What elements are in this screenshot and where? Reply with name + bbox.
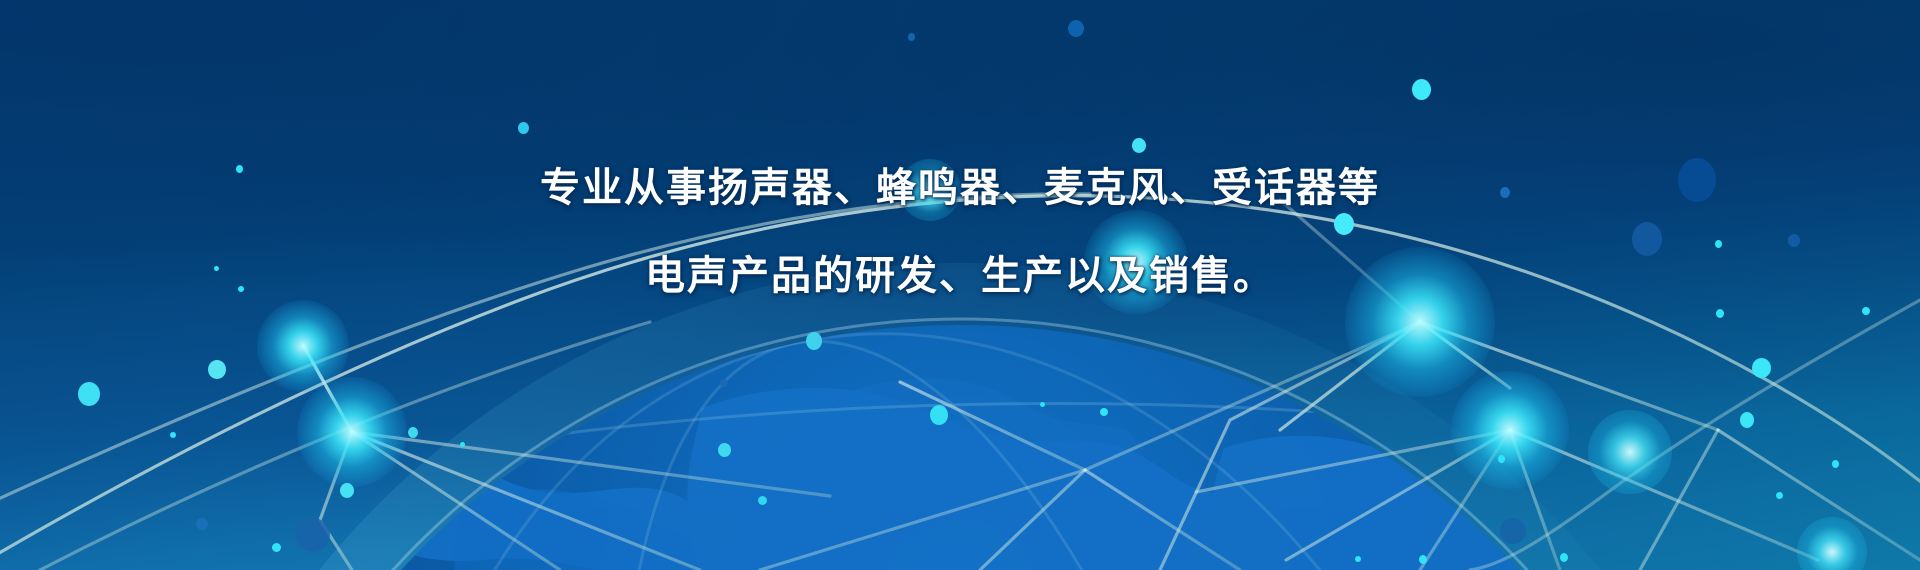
particle-dot-icon: [1498, 455, 1505, 463]
particle-dot-icon: [1500, 187, 1510, 198]
particle-dot-icon: [908, 33, 915, 41]
particle-dot-icon: [1788, 234, 1800, 247]
particle-dot-icon: [1040, 402, 1045, 407]
particle-dot-icon: [1752, 358, 1771, 378]
particle-dot-icon: [1832, 460, 1839, 468]
particle-dot-icon: [1716, 309, 1724, 318]
particle-dot-icon: [296, 518, 330, 552]
particle-dot-icon: [1740, 412, 1754, 428]
particle-dot-icon: [1068, 20, 1084, 37]
particle-dot-icon: [1132, 138, 1146, 153]
particle-dot-icon: [460, 442, 465, 447]
hero-banner: 专业从事扬声器、蜂鸣器、麦克风、受话器等 电声产品的研发、生产以及销售。: [0, 0, 1920, 570]
particle-dot-icon: [1355, 556, 1361, 562]
particle-dot-icon: [408, 427, 418, 438]
particle-dot-icon: [170, 432, 176, 438]
particle-dot-icon: [340, 483, 354, 498]
particle-dot-icon: [1862, 307, 1870, 315]
particle-dot-icon: [718, 443, 731, 457]
particle-dot-icon: [78, 382, 100, 406]
particle-dot-icon: [806, 332, 822, 350]
particle-dot-icon: [1412, 79, 1431, 100]
particle-dot-icon: [238, 286, 244, 292]
particle-dot-icon: [518, 122, 529, 134]
particle-dot-icon: [1776, 492, 1783, 499]
particle-dot-icon: [1419, 555, 1427, 564]
particle-dot-icon: [758, 496, 767, 505]
particle-dot-icon: [272, 543, 281, 552]
particle-dots-layer: [0, 0, 1920, 570]
particle-dot-icon: [1334, 213, 1354, 235]
particle-dot-icon: [1632, 222, 1662, 256]
particle-dot-icon: [1100, 408, 1108, 416]
particle-dot-icon: [236, 165, 243, 173]
particle-dot-icon: [1715, 240, 1722, 248]
particle-dot-icon: [196, 518, 208, 530]
particle-dot-icon: [214, 266, 219, 271]
particle-dot-icon: [1560, 553, 1568, 562]
particle-dot-icon: [1500, 518, 1526, 544]
particle-dot-icon: [208, 360, 226, 379]
particle-dot-icon: [720, 379, 728, 387]
particle-dot-icon: [1678, 158, 1716, 202]
particle-dot-icon: [930, 405, 948, 425]
